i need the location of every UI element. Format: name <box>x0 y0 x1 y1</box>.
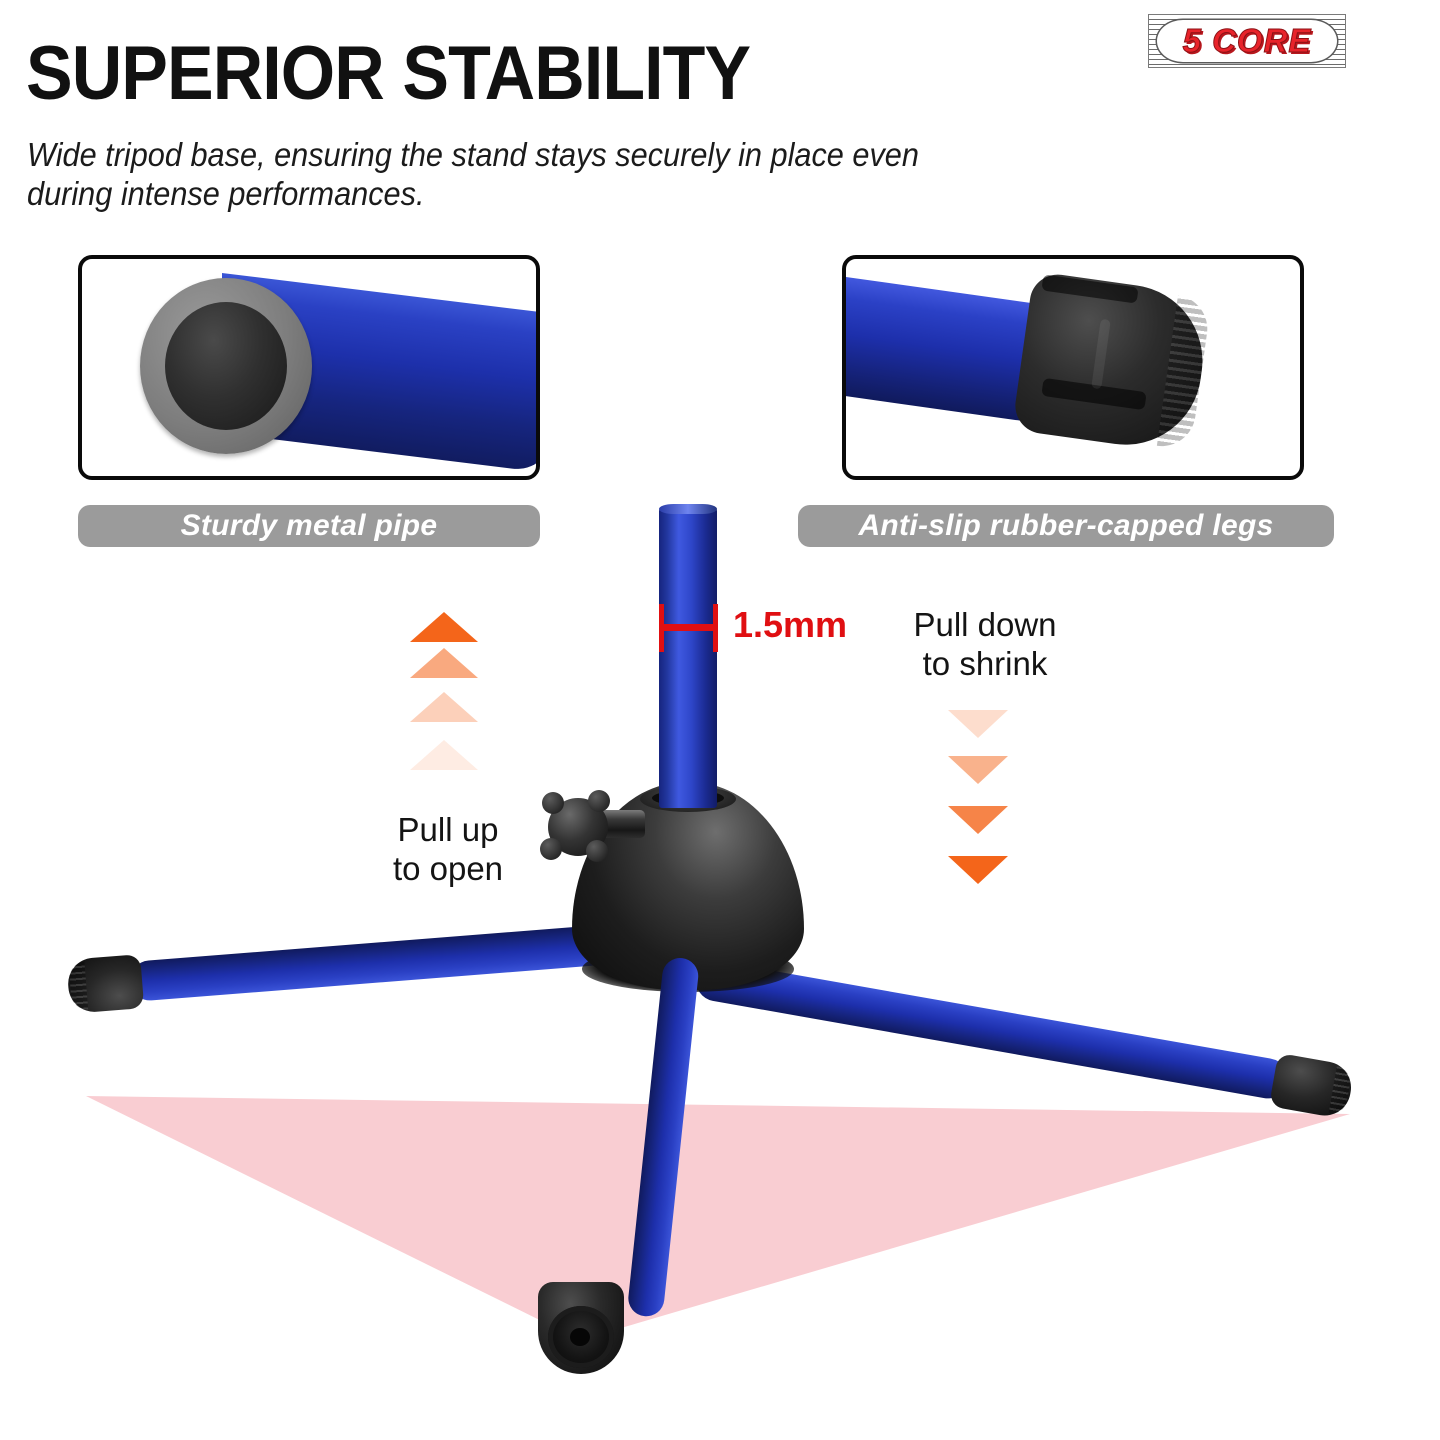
page-subtitle: Wide tripod base, ensuring the stand sta… <box>27 135 938 213</box>
pipe-rim-shape <box>140 278 312 454</box>
leg-left-foot <box>66 954 144 1014</box>
leg-photo-frame <box>842 255 1304 480</box>
knob-lobe-4 <box>586 840 608 862</box>
feature-card-sturdy-metal-pipe <box>78 255 540 480</box>
pipe-bore-shape <box>165 302 287 430</box>
tripod-pole <box>659 508 717 808</box>
infographic-canvas: SUPERIOR STABILITY Wide tripod base, ens… <box>0 0 1440 1440</box>
pipe-photo-frame <box>78 255 540 480</box>
thickness-value-label: 1.5mm <box>733 604 847 646</box>
tripod-illustration <box>0 460 1440 1440</box>
dim-bar <box>659 624 718 631</box>
knob-lobe-1 <box>542 792 564 814</box>
logo-text: 5 CORE <box>1149 15 1345 67</box>
feature-card-anti-slip-legs <box>842 255 1304 480</box>
page-title: SUPERIOR STABILITY <box>26 36 750 112</box>
knob-lobe-3 <box>540 838 562 860</box>
leg-front-foot-center <box>570 1328 590 1346</box>
knob-lobe-2 <box>588 790 610 812</box>
brand-logo: 5 CORE <box>1148 14 1346 68</box>
tripod-pole-top-cap <box>659 504 717 514</box>
